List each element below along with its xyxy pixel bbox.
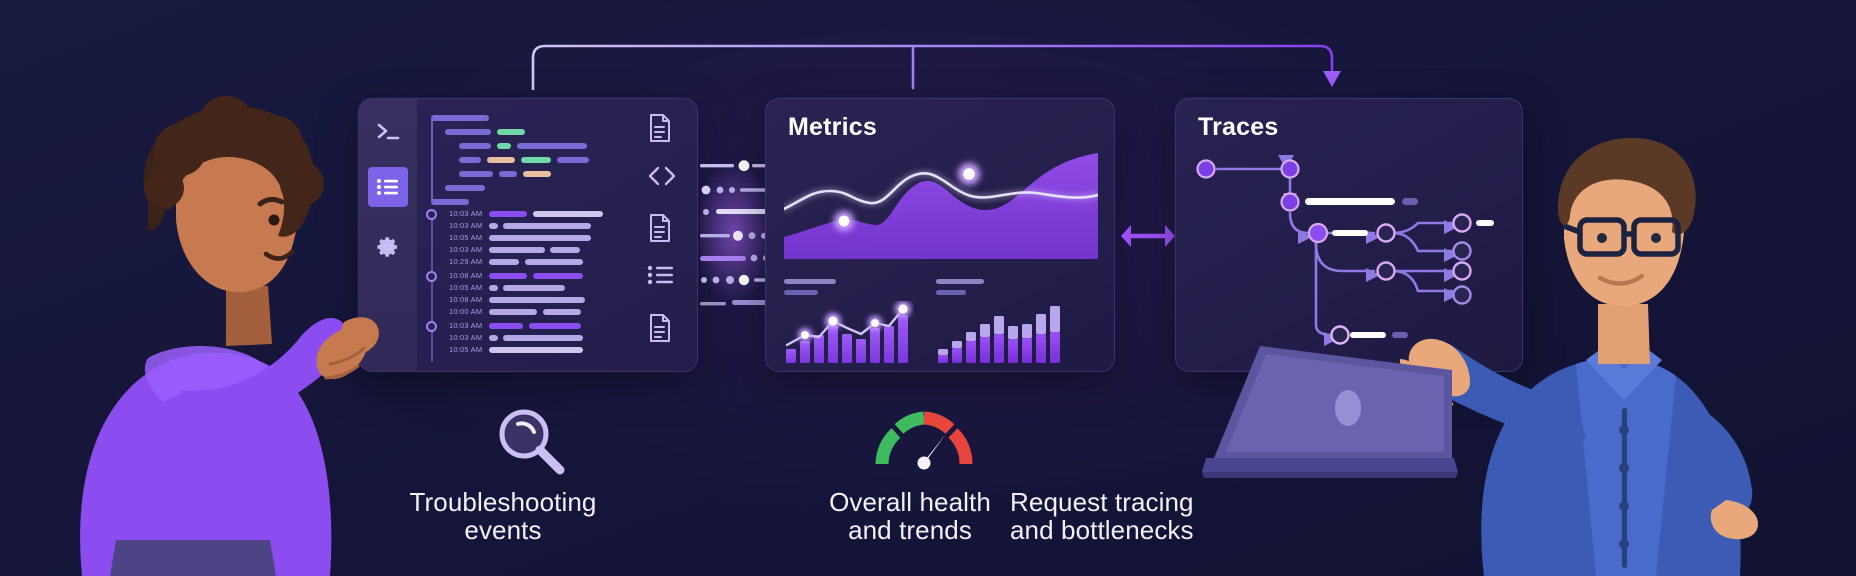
data-flow-connector xyxy=(700,150,770,320)
person-left xyxy=(30,90,390,576)
document-icon[interactable] xyxy=(647,313,681,347)
log-timestamp: 10:05 AM xyxy=(449,233,482,242)
metrics-label-bar xyxy=(936,279,984,284)
log-timestamp: 10:00 AM xyxy=(449,307,482,316)
logs-doc-icons xyxy=(639,109,689,372)
code-brackets-icon[interactable] xyxy=(647,165,681,199)
log-timestamp: 10:08 AM xyxy=(449,271,482,280)
log-timestamp: 10:29 AM xyxy=(449,257,482,266)
document-icon[interactable] xyxy=(647,213,681,247)
log-timestamp: 10:08 AM xyxy=(449,295,482,304)
metrics-panel-title: Metrics xyxy=(788,113,877,142)
gauge-icon xyxy=(872,408,976,470)
caption-line2: and trends xyxy=(848,515,972,545)
metrics-panel[interactable]: Metrics xyxy=(765,98,1115,372)
log-marker[interactable] xyxy=(426,321,437,332)
metrics-bar-charts xyxy=(784,279,1098,363)
metrics-bars-right xyxy=(936,301,1066,363)
caption-line2: events xyxy=(464,515,541,545)
log-timestamp: 10:05 AM xyxy=(449,345,482,354)
log-timestamp: 10:03 AM xyxy=(449,245,482,254)
illustration-canvas: 10:03 AM 10:03 AM 10:05 AM 10:03 AM 10:2… xyxy=(0,0,1856,576)
document-icon[interactable] xyxy=(647,113,681,147)
bullet-list-icon[interactable] xyxy=(647,265,681,299)
person-right xyxy=(1400,108,1840,576)
caption-line2: and bottlenecks xyxy=(1010,515,1194,545)
caption-request-tracing: Request tracing and bottlenecks xyxy=(1010,488,1194,544)
log-timestamp: 10:03 AM xyxy=(449,209,482,218)
metrics-area-line-chart xyxy=(784,151,1098,259)
bracket-connector xyxy=(530,38,1360,90)
caption-line1: Request tracing xyxy=(1010,487,1194,517)
traces-panel-title: Traces xyxy=(1198,113,1278,142)
caption-line1: Troubleshooting xyxy=(410,487,597,517)
log-timestamp: 10:03 AM xyxy=(449,333,482,342)
logs-panel[interactable]: 10:03 AM 10:03 AM 10:05 AM 10:03 AM 10:2… xyxy=(358,98,698,372)
caption-troubleshooting: Troubleshooting events xyxy=(378,488,628,544)
log-marker[interactable] xyxy=(426,271,437,282)
magnifier-icon xyxy=(494,404,568,478)
log-marker[interactable] xyxy=(426,209,437,220)
logs-content: 10:03 AM 10:03 AM 10:05 AM 10:03 AM 10:2… xyxy=(417,99,697,371)
metrics-label-bar xyxy=(784,279,836,284)
double-arrow-icon xyxy=(1120,220,1176,252)
metrics-label-bar xyxy=(784,290,818,295)
metrics-bars-left xyxy=(784,301,914,363)
laptop xyxy=(1200,340,1460,490)
log-timestamp: 10:05 AM xyxy=(449,283,482,292)
metrics-label-bar xyxy=(936,290,966,295)
log-timestamp: 10:03 AM xyxy=(449,321,482,330)
log-timestamp: 10:03 AM xyxy=(449,221,482,230)
caption-line1: Overall health xyxy=(829,487,991,517)
